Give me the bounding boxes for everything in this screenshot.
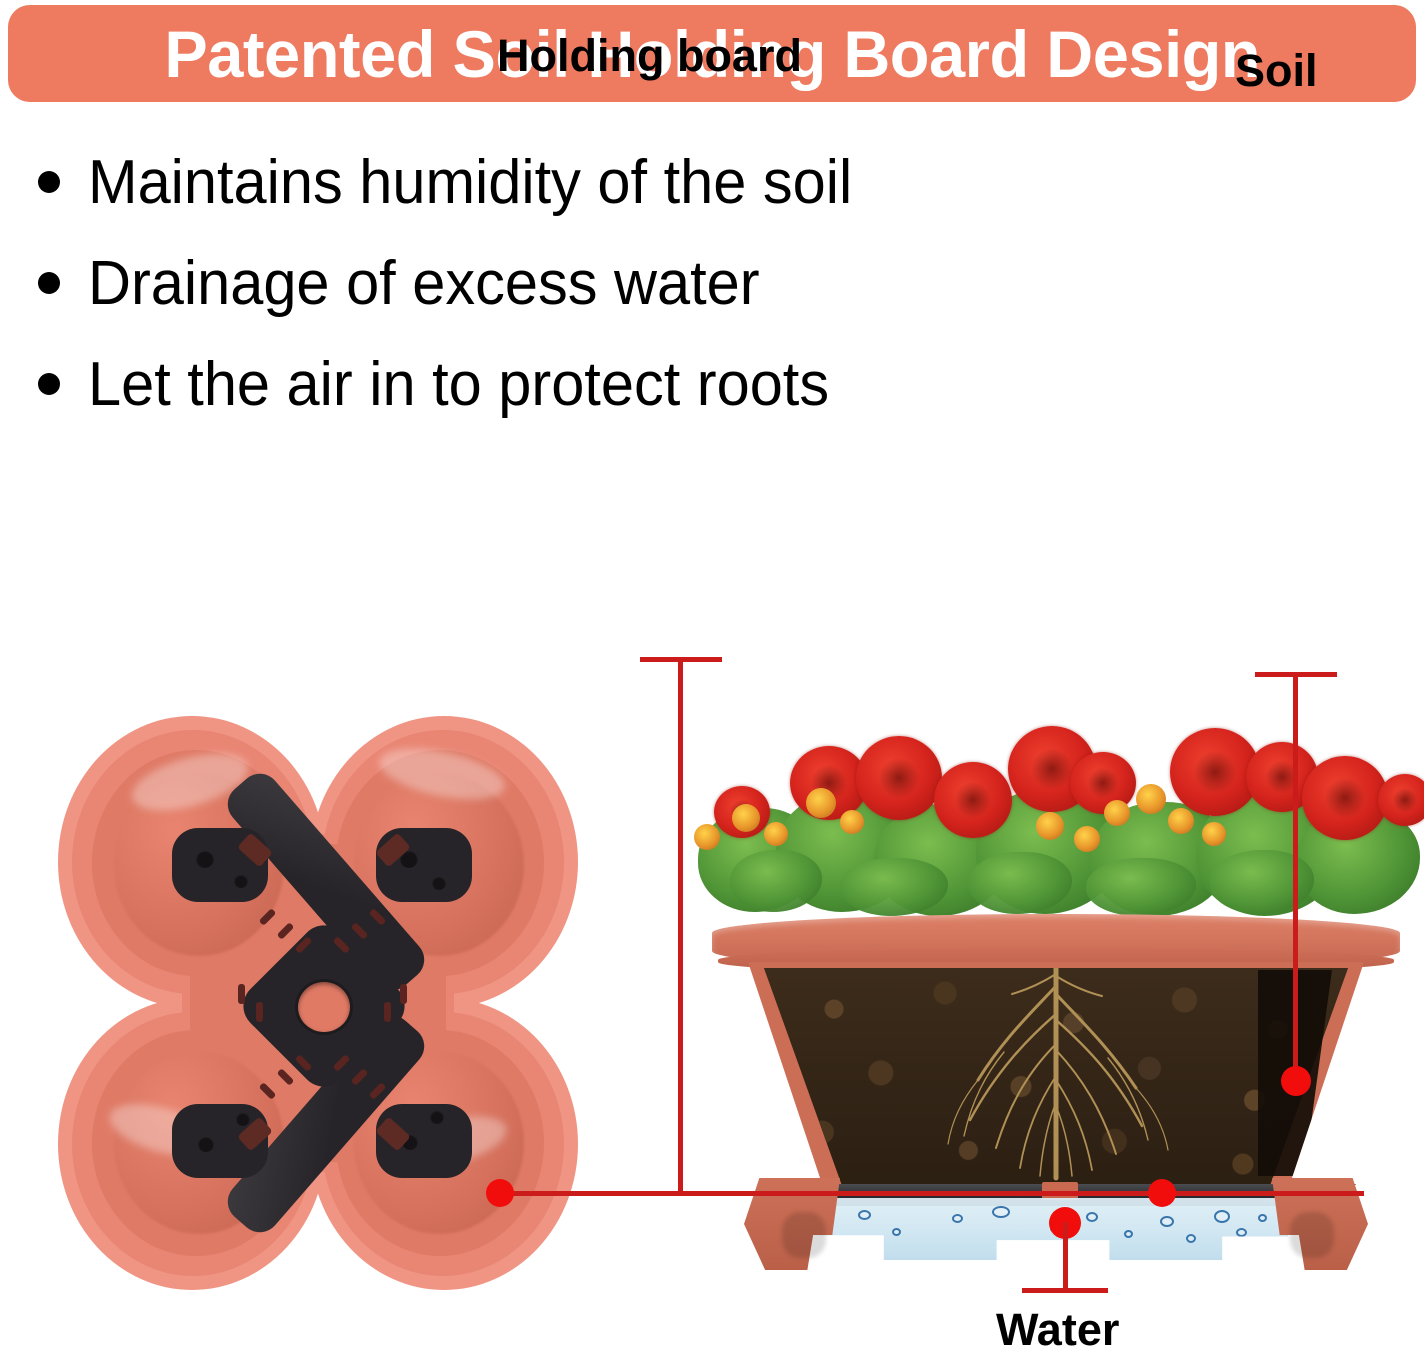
bullet-point-icon xyxy=(38,373,60,395)
leader-rule-holding-board xyxy=(498,1191,1364,1196)
vent-slit xyxy=(256,1002,263,1022)
board-stud xyxy=(432,876,446,890)
marker-dot-soil xyxy=(1281,1066,1311,1096)
callout-label-holding-board: Holding board xyxy=(497,33,802,78)
feature-text: Maintains humidity of the soil xyxy=(88,152,852,214)
list-item: Drainage of excess water xyxy=(38,253,1138,354)
accent-flower xyxy=(840,810,864,834)
bullet-point-icon xyxy=(38,171,60,193)
leader-cap-water xyxy=(1022,1288,1108,1293)
list-item: Maintains humidity of the soil xyxy=(38,152,1138,253)
accent-flower xyxy=(1202,822,1226,846)
board-stud xyxy=(234,874,248,888)
feature-text: Drainage of excess water xyxy=(88,253,760,315)
feature-bullet-list: Maintains humidity of the soil Drainage … xyxy=(38,152,1138,455)
vent-slit xyxy=(277,1068,295,1086)
vent-slit xyxy=(400,984,407,1004)
board-stud xyxy=(198,1136,214,1152)
flower-bloom xyxy=(856,736,942,820)
accent-flower xyxy=(1168,808,1194,834)
soil-holding-board-part xyxy=(178,834,468,1174)
flower-bloom xyxy=(934,762,1012,838)
leader-stem-holding-board xyxy=(678,657,683,1194)
accent-flower xyxy=(1104,800,1130,826)
vent-slit xyxy=(259,1082,277,1100)
accent-flower xyxy=(1036,812,1064,840)
accent-flower xyxy=(764,822,788,846)
board-stud xyxy=(430,1110,444,1124)
accent-flower xyxy=(732,804,760,832)
list-item: Let the air in to protect roots xyxy=(38,354,1138,455)
pot-body xyxy=(748,962,1364,1202)
flower-cluster xyxy=(690,700,1420,922)
marker-dot-holding-board-left xyxy=(486,1179,514,1207)
vent-slit xyxy=(384,1002,391,1022)
board-stud xyxy=(196,850,214,868)
accent-flower xyxy=(806,788,836,818)
callout-label-water: Water xyxy=(996,1307,1119,1352)
feature-text: Let the air in to protect roots xyxy=(88,354,829,416)
accent-flower xyxy=(694,824,720,850)
marker-dot-holding-board-right xyxy=(1148,1179,1176,1207)
infographic-page: Patented Soil Holding Board Design Maint… xyxy=(0,0,1424,1368)
accent-flower xyxy=(1074,826,1100,852)
callout-label-soil: Soil xyxy=(1235,48,1318,93)
center-drain-hole xyxy=(298,982,350,1032)
leader-stem-soil xyxy=(1293,672,1298,1074)
vent-slit xyxy=(238,984,245,1004)
vent-slit xyxy=(259,908,277,926)
vent-slit xyxy=(277,922,295,940)
board-stud xyxy=(236,1112,250,1126)
quatrefoil-planter-top-view xyxy=(48,708,588,1298)
leader-stem-water xyxy=(1063,1222,1068,1291)
flower-bloom xyxy=(1302,756,1388,840)
bullet-point-icon xyxy=(38,272,60,294)
accent-flower xyxy=(1136,784,1166,814)
flower-bloom xyxy=(1378,774,1424,826)
